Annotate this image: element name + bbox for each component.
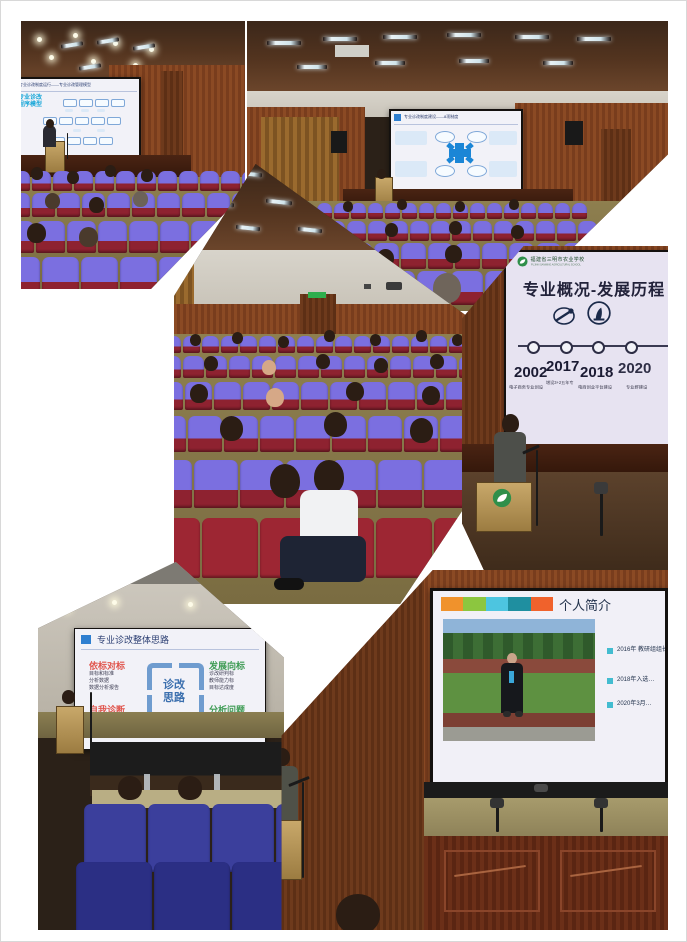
bullet-text-1: 2018年入选…: [617, 677, 654, 685]
bullet-0: 2016年 教研组组长: [607, 647, 668, 655]
tile-right-timeline[interactable]: 福建省三明市农业学校 FUJIAN SANMING AGRICULTURAL S…: [462, 246, 668, 576]
milestone-year-0: 2002: [514, 364, 547, 381]
tile-bottom-right[interactable]: 个人简介: [248, 570, 668, 930]
quadrant-lines-1: 诊改研判标教师能力标目标达成度: [209, 671, 234, 691]
color-bar-0: [441, 597, 463, 611]
table-microphone-right: [600, 806, 603, 832]
bullet-marker-icon: [607, 648, 613, 654]
scene-bottom-right: 个人简介: [248, 570, 668, 930]
color-bar-1: [463, 597, 485, 611]
color-bar-2: [486, 597, 508, 611]
photo-collage: 专业诊改制度运行——专业诊改管理模型 专业诊改 程序模型: [0, 0, 687, 942]
tile-bottom-left[interactable]: 专业诊改整体思路 依标对标 目标和标准分析数据数据分析报告 自我诊断 专业剖析·…: [38, 562, 284, 930]
microphone-stand-right: [600, 492, 603, 536]
milestone-year-1: 2017: [546, 358, 579, 375]
bullet-text-2: 2020年3月…: [617, 701, 652, 709]
milestone-caption-2: 电商创业平台建设: [578, 384, 612, 390]
slide-screen-top-left: 专业诊改制度运行——专业诊改管理模型 专业诊改 程序模型: [21, 77, 141, 159]
slide-screen-top-right: 专业诊改制度建设——8项制度: [389, 109, 523, 193]
slide-header: 专业诊改整体思路: [97, 633, 169, 646]
speaker: [43, 125, 56, 147]
front-row-person-head: [314, 460, 344, 494]
bullet-2: 2020年3月…: [607, 701, 652, 709]
slide-header: 专业诊改制度运行——专业诊改管理模型: [21, 82, 91, 88]
table-microphone-left: [496, 806, 499, 832]
color-bar-3: [508, 597, 530, 611]
leaf-logo-icon: [517, 256, 528, 267]
scene-bottom-left: 专业诊改整体思路 依标对标 目标和标准分析数据数据分析报告 自我诊断 专业剖析·…: [38, 562, 284, 930]
presenter-head: [502, 414, 519, 433]
satellite-icon: [552, 304, 576, 333]
collage-stage: 专业诊改制度运行——专业诊改管理模型 专业诊改 程序模型: [14, 14, 675, 930]
profile-photo: [443, 619, 595, 741]
timeline-slide: 福建省三明市农业学校 FUJIAN SANMING AGRICULTURAL S…: [506, 252, 668, 448]
bullet-marker-icon: [607, 678, 613, 684]
slide-screen-profile: 个人简介: [430, 588, 668, 790]
bullet-text-0: 2016年 教研组组长: [617, 647, 668, 655]
scene-right-timeline: 福建省三明市农业学校 FUJIAN SANMING AGRICULTURAL S…: [462, 246, 668, 576]
slide-title: 专业概况-发展历程: [506, 276, 668, 300]
presenter-body: [494, 432, 526, 488]
milestone-year-3: 2020: [618, 360, 651, 377]
milestone-year-2: 2018: [580, 364, 613, 381]
color-bar-4: [531, 597, 553, 611]
bullet-marker-icon: [607, 702, 613, 708]
flowchart-slide: 专业诊改制度运行——专业诊改管理模型 专业诊改 程序模型: [21, 79, 139, 157]
logo-title: 福建省三明市农业学校: [531, 256, 585, 263]
profile-slide: 个人简介: [433, 591, 665, 787]
color-bar-strip: [441, 597, 553, 611]
milestone-caption-3: 专业群建设: [626, 384, 647, 390]
front-row-person-trousers: [280, 536, 366, 582]
microphone-stand-left: [536, 450, 538, 526]
cycle-center-label: 诊改思路: [157, 679, 191, 704]
foreground-person-head: [336, 894, 380, 930]
milestone-caption-0: 电子商务专业创设: [509, 384, 543, 390]
slide-screen-timeline: 福建省三明市农业学校 FUJIAN SANMING AGRICULTURAL S…: [504, 250, 668, 450]
rocket-icon: [586, 300, 612, 331]
slide-header: 专业诊改制度建设——8项制度: [404, 114, 458, 120]
bullet-1: 2018年入选…: [607, 677, 654, 685]
quadrant-lines-0: 目标和标准分析数据数据分析报告: [89, 671, 119, 691]
slide-header: 个人简介: [559, 595, 611, 614]
podium-emblem-icon: [492, 488, 512, 508]
logo-subtitle: FUJIAN SANMING AGRICULTURAL SCHOOL: [531, 263, 581, 266]
milestone-caption-1: 增设3+2五年专: [546, 380, 573, 386]
school-logo: 福建省三明市农业学校 FUJIAN SANMING AGRICULTURAL S…: [517, 256, 616, 274]
hub-slide: 专业诊改制度建设——8项制度: [391, 111, 521, 191]
slide-badge: 专业诊改 程序模型: [21, 95, 42, 109]
